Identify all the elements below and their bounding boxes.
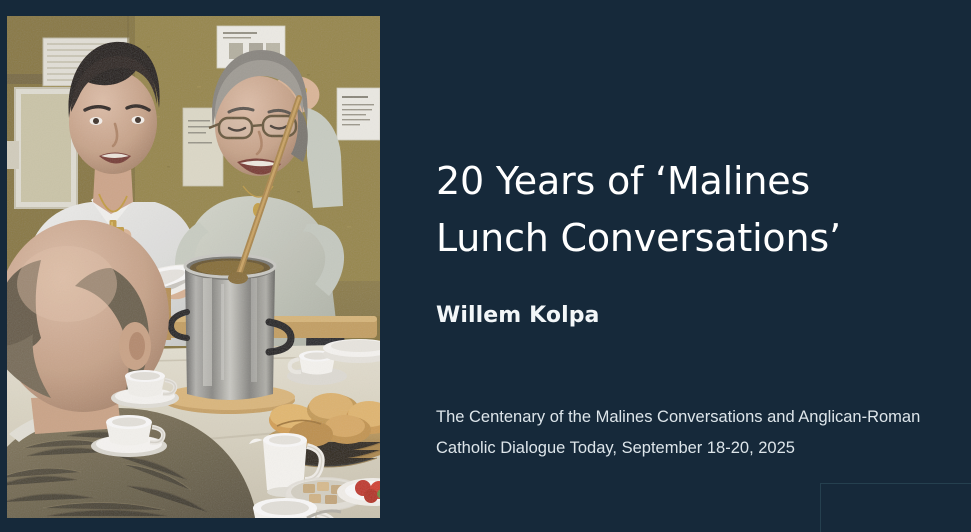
lunch-scene-illustration <box>7 16 380 518</box>
event-subtitle: The Centenary of the Malines Conversatio… <box>436 402 956 464</box>
author-name: Willem Kolpa <box>436 303 600 328</box>
slide-text-column: 20 Years of ‘Malines Lunch Conversations… <box>436 0 956 532</box>
page-title: 20 Years of ‘Malines Lunch Conversations… <box>436 153 956 267</box>
title-slide-photo <box>7 16 380 518</box>
presentation-slide: 20 Years of ‘Malines Lunch Conversations… <box>0 0 971 532</box>
placeholder-frame <box>820 483 971 532</box>
